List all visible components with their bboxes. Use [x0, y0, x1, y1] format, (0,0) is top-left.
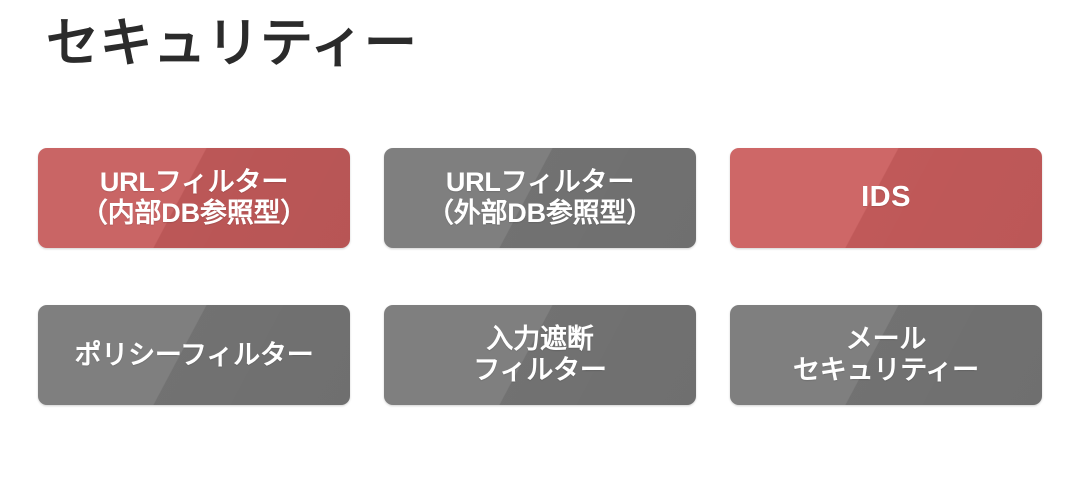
- card-label: IDS: [853, 181, 919, 214]
- card-label: URLフィルター （外部DB参照型）: [419, 167, 661, 229]
- card-url-filter-external-db[interactable]: URLフィルター （外部DB参照型）: [384, 148, 696, 248]
- card-mail-security[interactable]: メール セキュリティー: [730, 305, 1042, 405]
- slide-canvas: セキュリティー URLフィルター （内部DB参照型） URLフィルター （外部D…: [0, 0, 1080, 491]
- security-feature-grid: URLフィルター （内部DB参照型） URLフィルター （外部DB参照型） ID…: [38, 148, 1042, 405]
- card-url-filter-internal-db[interactable]: URLフィルター （内部DB参照型）: [38, 148, 350, 248]
- card-label: ポリシーフィルター: [66, 340, 321, 371]
- card-ids[interactable]: IDS: [730, 148, 1042, 248]
- card-label: URLフィルター （内部DB参照型）: [73, 167, 315, 229]
- card-label: 入力遮断 フィルター: [465, 324, 614, 386]
- card-label: メール セキュリティー: [785, 324, 987, 386]
- card-policy-filter[interactable]: ポリシーフィルター: [38, 305, 350, 405]
- card-input-block-filter[interactable]: 入力遮断 フィルター: [384, 305, 696, 405]
- page-title: セキュリティー: [46, 12, 417, 77]
